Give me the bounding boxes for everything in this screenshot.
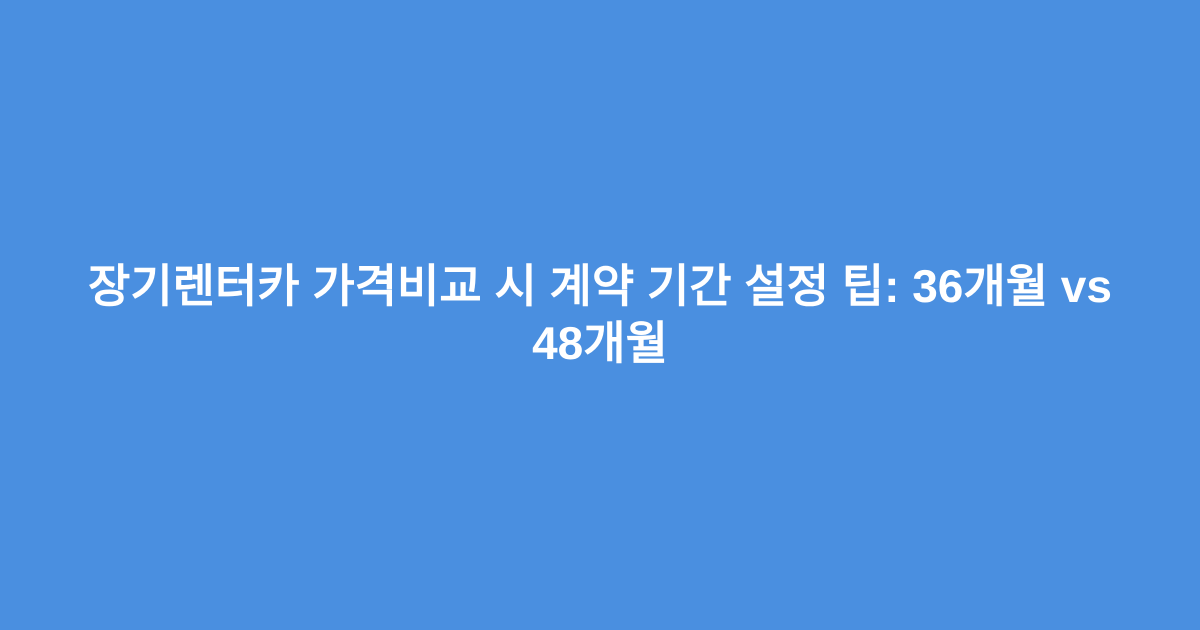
page-title: 장기렌터카 가격비교 시 계약 기간 설정 팁: 36개월 vs 48개월 [84, 258, 1116, 372]
title-block: 장기렌터카 가격비교 시 계약 기간 설정 팁: 36개월 vs 48개월 [50, 258, 1150, 372]
og-card: 장기렌터카 가격비교 시 계약 기간 설정 팁: 36개월 vs 48개월 [0, 0, 1200, 630]
